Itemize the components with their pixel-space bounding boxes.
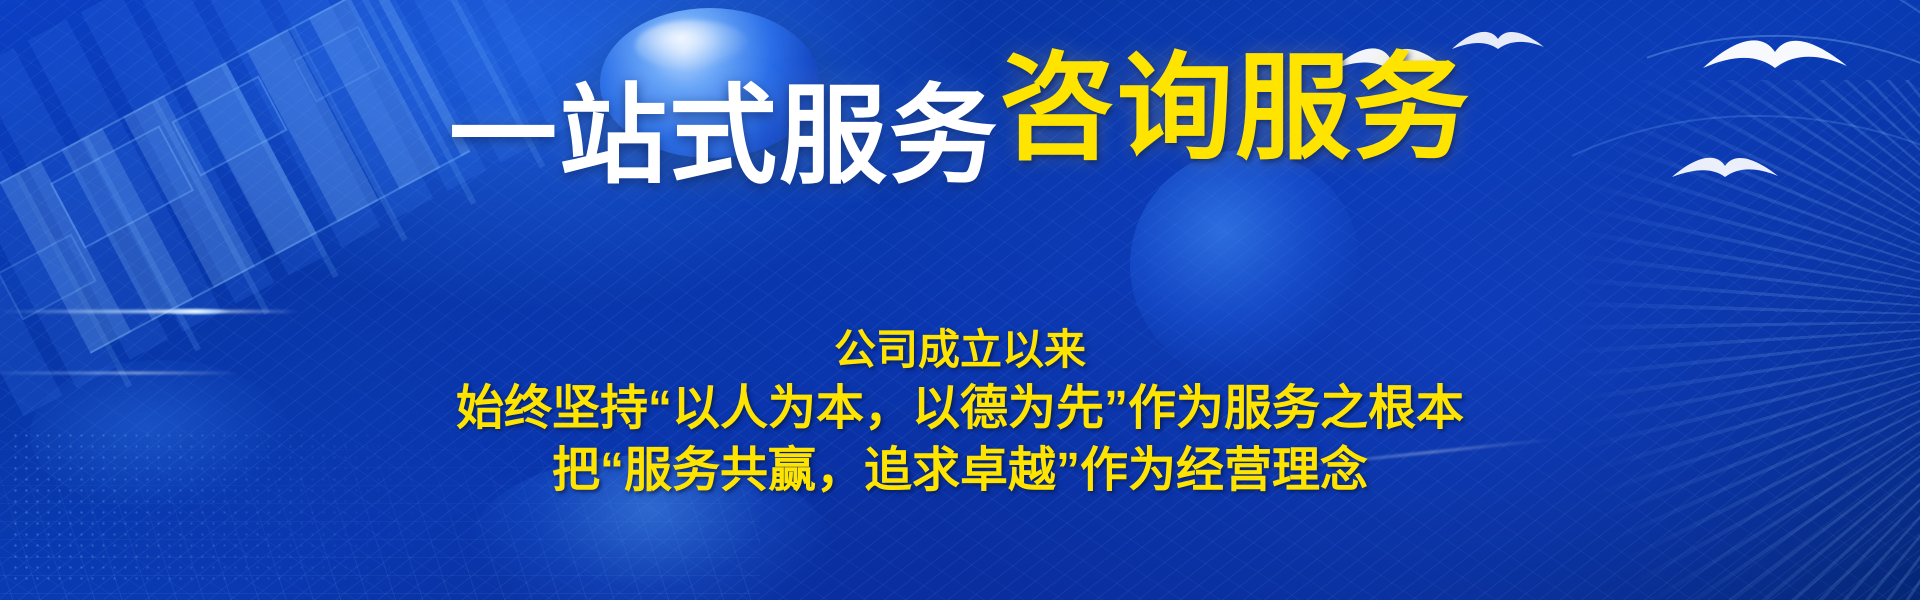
light-glow-dot xyxy=(160,308,230,315)
body-line-2: 始终坚持“以人为本，以德为先”作为服务之根本 xyxy=(0,378,1920,440)
body-line-3: 把“服务共赢，追求卓越”作为经营理念 xyxy=(0,440,1920,502)
headline-yellow-text: 咨询服务 xyxy=(999,43,1471,173)
headline-white-text: 一站式服务 xyxy=(449,75,999,196)
headline: 一站式服务咨询服务 xyxy=(0,78,1920,194)
body-copy: 公司成立以来 始终坚持“以人为本，以德为先”作为服务之根本 把“服务共赢，追求卓… xyxy=(0,322,1920,502)
light-streak-upper-left xyxy=(0,310,300,313)
body-line-1: 公司成立以来 xyxy=(0,322,1920,378)
promo-banner: 一站式服务咨询服务 公司成立以来 始终坚持“以人为本，以德为先”作为服务之根本 … xyxy=(0,0,1920,600)
